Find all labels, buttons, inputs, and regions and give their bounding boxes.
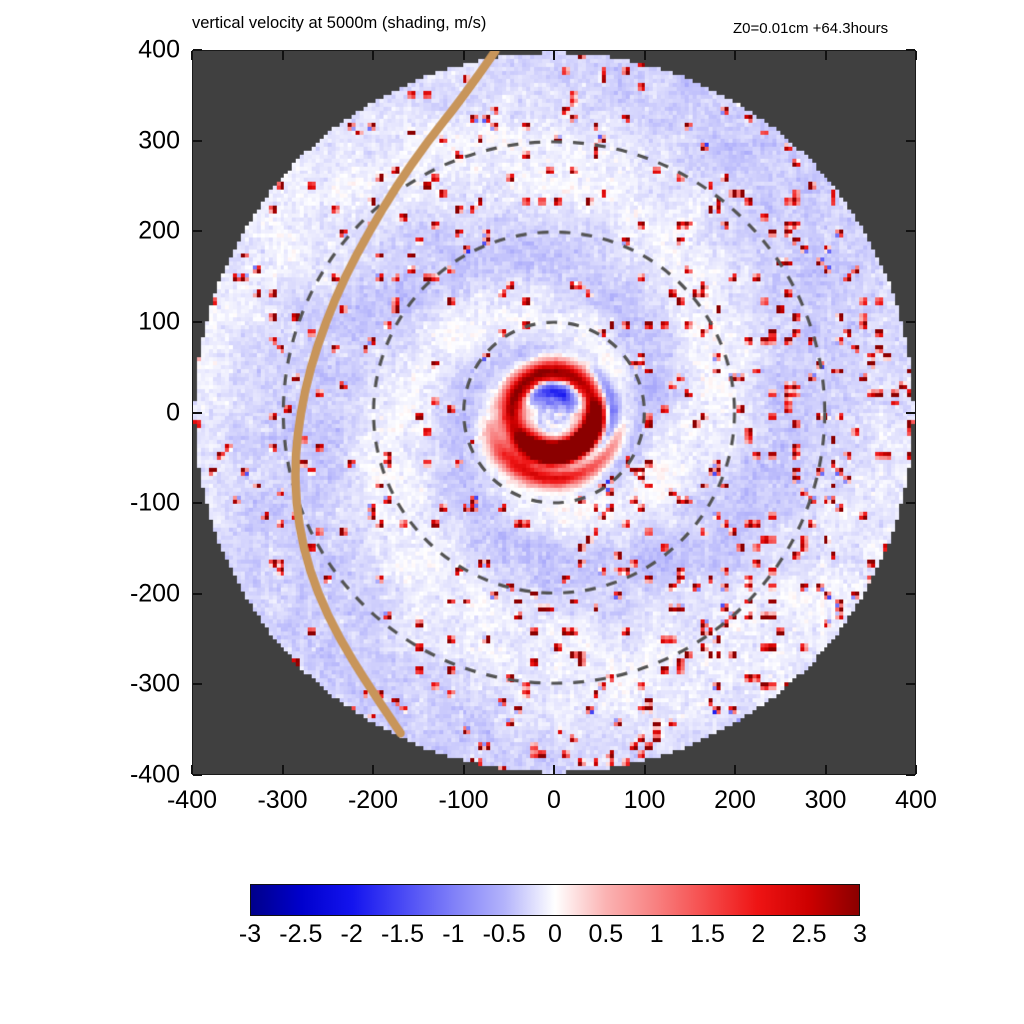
colorbar-tick-label: 2 [751,920,765,949]
plot-area [192,50,916,775]
x-tick-mark [372,51,374,60]
y-tick-mark [193,593,202,595]
x-tick-label: 0 [547,786,561,815]
x-tick-mark [915,51,917,60]
vertical-velocity-heatmap [193,51,915,774]
x-tick-mark [463,765,465,774]
plot-annotation: Z0=0.01cm +64.3hours [733,20,888,37]
x-tick-mark [191,51,193,60]
y-tick-label: 200 [60,217,180,246]
x-tick-label: 100 [624,786,666,815]
x-tick-mark [553,765,555,774]
y-tick-mark [906,321,915,323]
y-tick-mark [906,502,915,504]
x-tick-mark [825,51,827,60]
y-tick-mark [193,49,202,51]
y-tick-label: -200 [60,579,180,608]
colorbar-tick-label: -2.5 [279,920,322,949]
y-tick-mark [906,774,915,776]
x-tick-label: 400 [895,786,937,815]
colorbar-tick-label: -3 [239,920,261,949]
y-tick-mark [906,683,915,685]
colorbar-tick-label: 0.5 [588,920,623,949]
x-tick-mark [915,765,917,774]
x-tick-mark [825,765,827,774]
x-tick-label: -400 [167,786,217,815]
colorbar-tick-label: 3 [853,920,867,949]
x-tick-label: -200 [348,786,398,815]
x-tick-label: 200 [714,786,756,815]
colorbar-tick-labels: -3-2.5-2-1.5-1-0.500.511.522.53 [250,920,860,954]
y-tick-mark [906,412,915,414]
x-tick-mark [644,51,646,60]
y-tick-label: 0 [60,398,180,427]
y-tick-mark [906,49,915,51]
figure-canvas: vertical velocity at 5000m (shading, m/s… [0,0,1024,1024]
x-tick-mark [553,51,555,60]
x-tick-label: 300 [805,786,847,815]
x-tick-mark [191,765,193,774]
y-tick-mark [193,502,202,504]
y-tick-mark [193,321,202,323]
colorbar-tick-label: -1 [442,920,464,949]
y-tick-mark [193,683,202,685]
plot-title: vertical velocity at 5000m (shading, m/s… [192,14,486,33]
x-tick-mark [463,51,465,60]
y-tick-label: -400 [60,761,180,790]
y-tick-mark [193,230,202,232]
y-tick-mark [906,140,915,142]
y-tick-label: 300 [60,126,180,155]
y-tick-mark [906,593,915,595]
colorbar [250,884,860,916]
colorbar-tick-label: 1 [650,920,664,949]
colorbar-tick-label: -1.5 [381,920,424,949]
y-tick-mark [906,230,915,232]
colorbar-tick-label: -2 [341,920,363,949]
x-tick-mark [282,51,284,60]
x-tick-mark [734,765,736,774]
x-tick-label: -300 [257,786,307,815]
x-tick-mark [372,765,374,774]
colorbar-tick-label: 0 [548,920,562,949]
x-tick-mark [282,765,284,774]
x-tick-mark [644,765,646,774]
x-tick-mark [734,51,736,60]
colorbar-tick-label: 2.5 [792,920,827,949]
y-tick-label: 400 [60,36,180,65]
y-tick-mark [193,140,202,142]
y-tick-label: 100 [60,307,180,336]
x-tick-label: -100 [438,786,488,815]
y-tick-mark [193,412,202,414]
colorbar-gradient [250,884,860,916]
y-tick-mark [193,774,202,776]
colorbar-tick-label: -0.5 [483,920,526,949]
colorbar-tick-label: 1.5 [690,920,725,949]
y-tick-label: -100 [60,489,180,518]
y-tick-label: -300 [60,670,180,699]
